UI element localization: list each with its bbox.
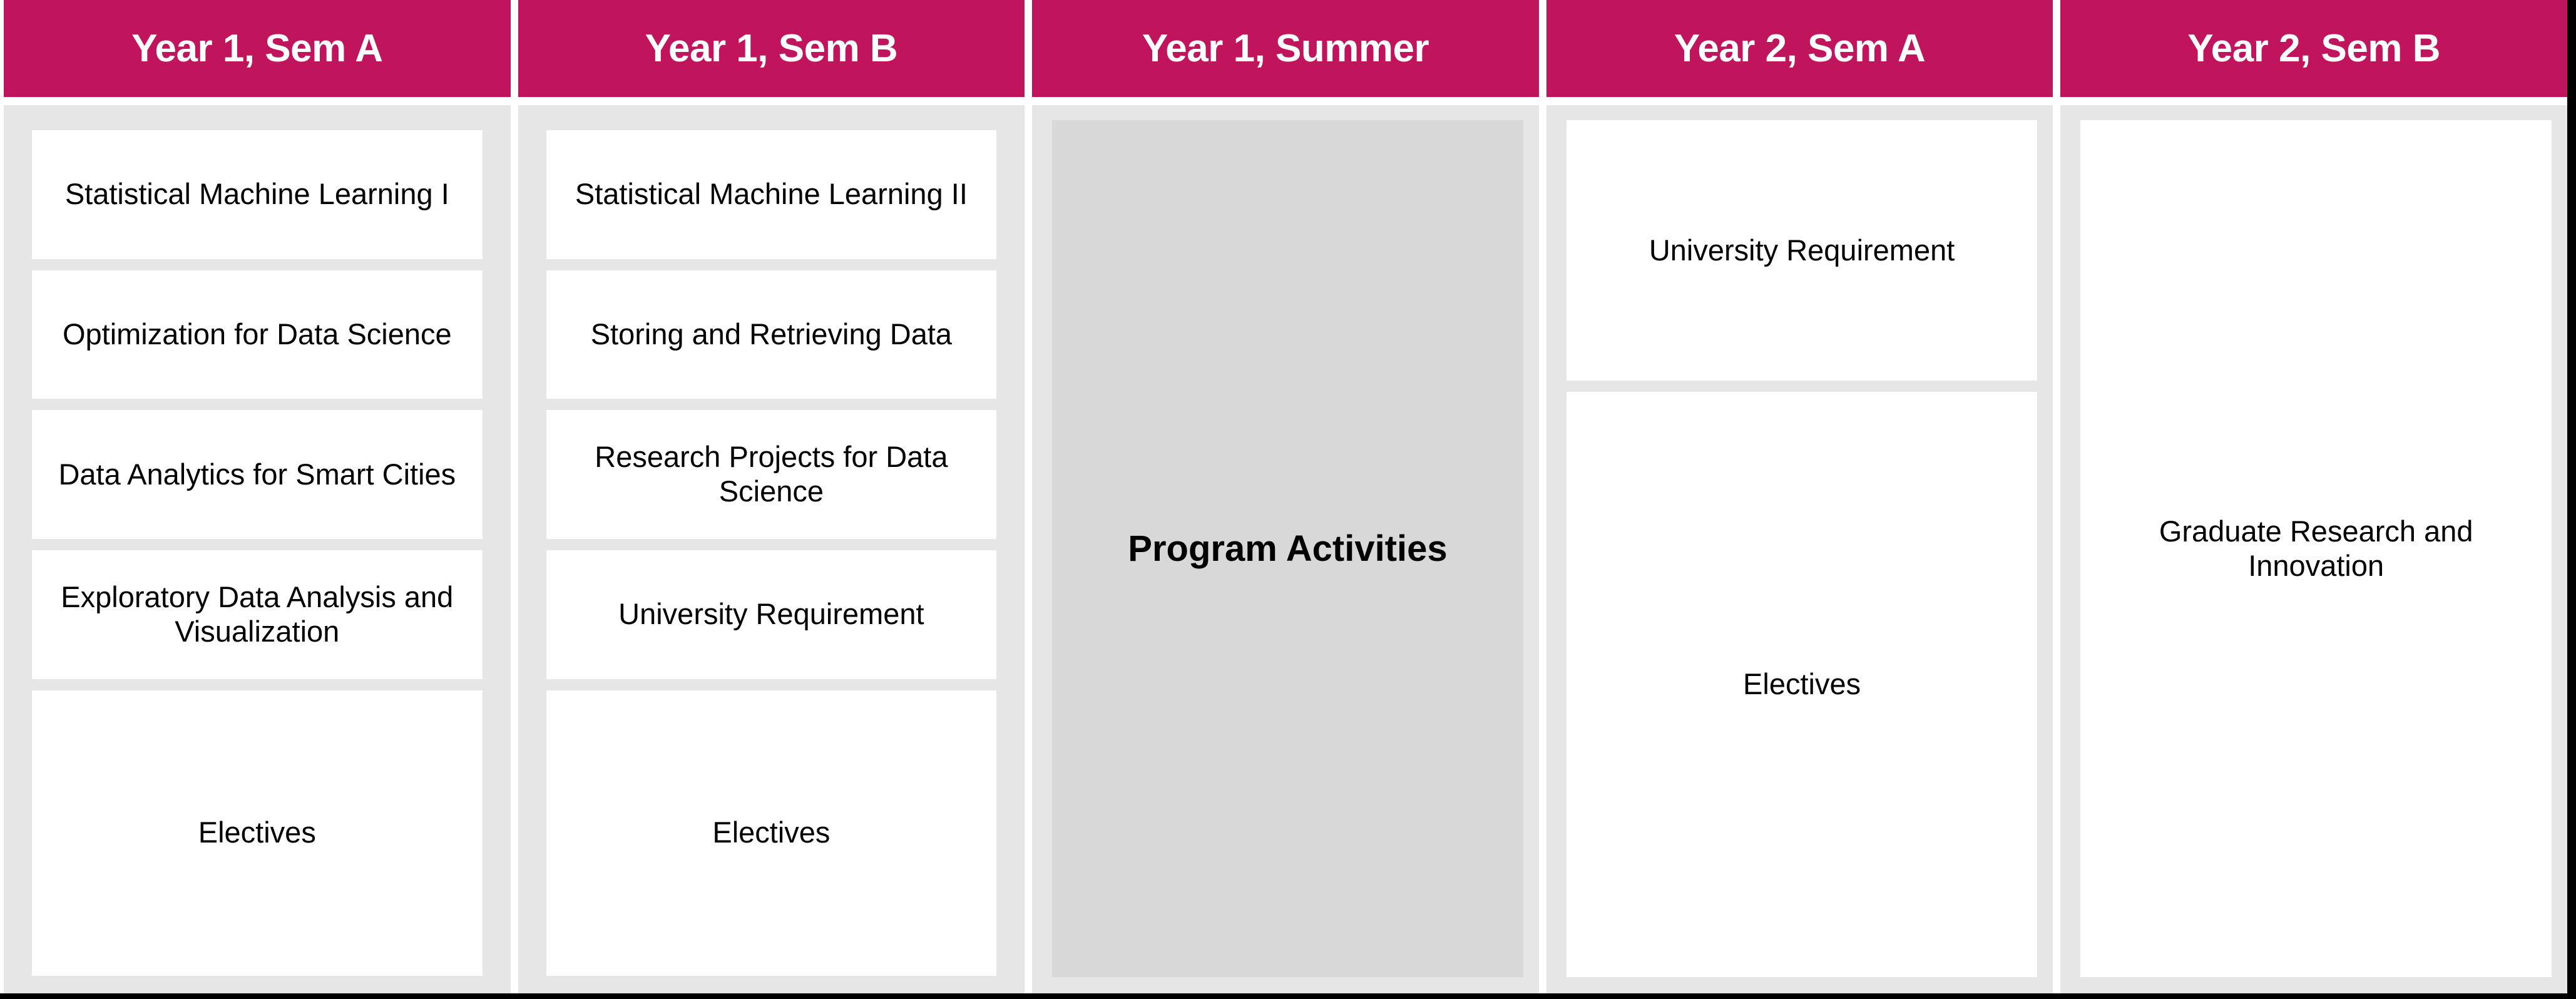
program-plan-table: Year 1, Sem AStatistical Machine Learnin… (0, 0, 2576, 999)
course-card-label: Research Projects for Data Science (555, 440, 988, 509)
course-card-label: Electives (198, 816, 316, 850)
course-card[interactable]: Storing and Retrieving Data (546, 270, 997, 399)
course-card[interactable]: University Requirement (1567, 120, 2038, 381)
course-card-label: Electives (712, 816, 830, 850)
semester-header[interactable]: Year 1, Summer (1032, 0, 1539, 97)
semester-column: Year 1, SummerProgram Activities (1032, 0, 1539, 993)
program-activities-card[interactable]: Program Activities (1052, 120, 1523, 977)
course-card[interactable]: Electives (32, 690, 483, 976)
course-card[interactable]: Electives (546, 690, 997, 976)
course-card-label: Optimization for Data Science (63, 317, 452, 352)
course-card[interactable]: Data Analytics for Smart Cities (32, 410, 483, 539)
course-card-label: Electives (1743, 667, 1861, 702)
course-card[interactable]: University Requirement (546, 550, 997, 679)
course-card-label: Exploratory Data Analysis and Visualizat… (41, 580, 474, 649)
course-card[interactable]: Statistical Machine Learning I (32, 130, 483, 259)
semester-columns: Year 1, Sem AStatistical Machine Learnin… (0, 0, 2567, 993)
semester-column: Year 2, Sem AUniversity RequirementElect… (1546, 0, 2053, 993)
semester-card-list: Graduate Research and Innovation (2060, 105, 2567, 993)
course-card-label: University Requirement (618, 597, 924, 632)
course-card[interactable]: Graduate Research and Innovation (2080, 120, 2552, 977)
course-card[interactable]: Electives (1567, 392, 2038, 977)
semester-column: Year 1, Sem AStatistical Machine Learnin… (4, 0, 511, 993)
course-card-label: Graduate Research and Innovation (2089, 515, 2543, 583)
semester-header[interactable]: Year 2, Sem B (2060, 0, 2567, 97)
semester-header[interactable]: Year 1, Sem B (518, 0, 1025, 97)
semester-card-list: University RequirementElectives (1546, 105, 2053, 993)
course-card-label: Storing and Retrieving Data (591, 317, 952, 352)
course-card[interactable]: Statistical Machine Learning II (546, 130, 997, 259)
course-card-label: Data Analytics for Smart Cities (58, 458, 456, 492)
course-card[interactable]: Exploratory Data Analysis and Visualizat… (32, 550, 483, 679)
semester-column: Year 1, Sem BStatistical Machine Learnin… (518, 0, 1025, 993)
semester-card-list: Statistical Machine Learning IIStoring a… (518, 105, 1025, 993)
course-card-label: Statistical Machine Learning II (575, 177, 968, 212)
course-card-label: Program Activities (1128, 527, 1447, 571)
semester-header[interactable]: Year 1, Sem A (4, 0, 511, 97)
semester-card-list: Statistical Machine Learning IOptimizati… (4, 105, 511, 993)
course-card-label: University Requirement (1649, 233, 1955, 268)
semester-card-list: Program Activities (1032, 105, 1539, 993)
semester-header[interactable]: Year 2, Sem A (1546, 0, 2053, 97)
course-card[interactable]: Optimization for Data Science (32, 270, 483, 399)
course-card-label: Statistical Machine Learning I (65, 177, 449, 212)
course-card[interactable]: Research Projects for Data Science (546, 410, 997, 539)
semester-column: Year 2, Sem BGraduate Research and Innov… (2060, 0, 2567, 993)
